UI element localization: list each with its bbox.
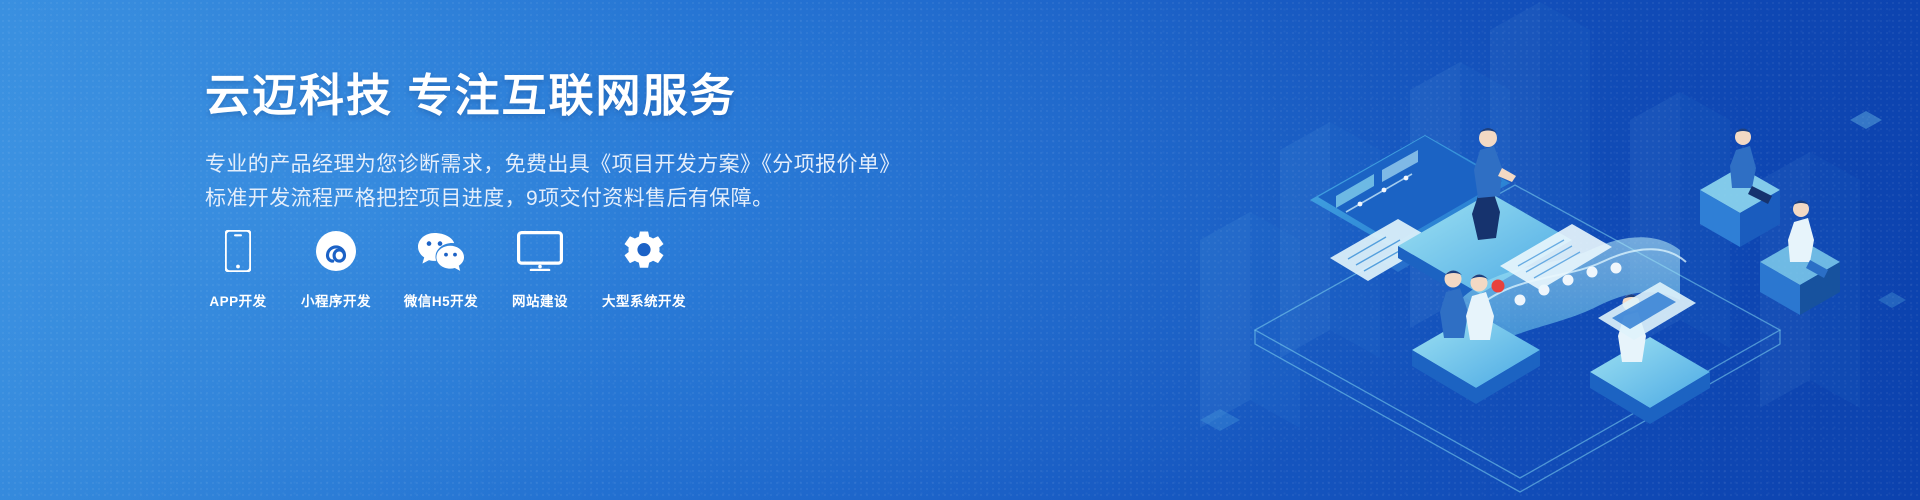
subtitle-line-2: 标准开发流程严格把控项目进度，9项交付资料售后有保障。 bbox=[205, 182, 925, 216]
service-item-app[interactable]: APP开发 bbox=[202, 228, 274, 310]
service-label-wechat-h5: 微信H5开发 bbox=[404, 290, 478, 310]
service-label-system: 大型系统开发 bbox=[602, 290, 686, 310]
gear-icon bbox=[623, 228, 665, 274]
monitor-icon bbox=[517, 228, 563, 274]
hero-text-block: 云迈科技 专注互联网服务 专业的产品经理为您诊断需求，免费出具《项目开发方案》《… bbox=[205, 70, 925, 216]
page-title: 云迈科技 专注互联网服务 bbox=[205, 70, 925, 122]
service-item-system[interactable]: 大型系统开发 bbox=[596, 228, 692, 310]
illustration-container bbox=[1160, 0, 1920, 500]
pedestal-right bbox=[1590, 337, 1710, 424]
service-list: APP开发 小程序开发 bbox=[202, 228, 692, 310]
service-item-mini-program[interactable]: 小程序开发 bbox=[292, 228, 380, 310]
service-item-website[interactable]: 网站建设 bbox=[502, 228, 578, 310]
isometric-team-dashboard-illustration bbox=[1160, 0, 1920, 500]
subtitle-line-1: 专业的产品经理为您诊断需求，免费出具《项目开发方案》《分项报价单》 bbox=[205, 148, 925, 182]
phone-icon bbox=[225, 228, 251, 274]
service-item-wechat-h5[interactable]: 微信H5开发 bbox=[398, 228, 484, 310]
service-label-mini-program: 小程序开发 bbox=[301, 290, 371, 310]
subtitle-block: 专业的产品经理为您诊断需求，免费出具《项目开发方案》《分项报价单》 标准开发流程… bbox=[205, 148, 925, 216]
mini-program-icon bbox=[315, 228, 357, 274]
hero-banner: 云迈科技 专注互联网服务 专业的产品经理为您诊断需求，免费出具《项目开发方案》《… bbox=[0, 0, 1920, 500]
service-label-app: APP开发 bbox=[209, 290, 266, 310]
wechat-icon bbox=[416, 228, 466, 274]
service-label-website: 网站建设 bbox=[512, 290, 568, 310]
